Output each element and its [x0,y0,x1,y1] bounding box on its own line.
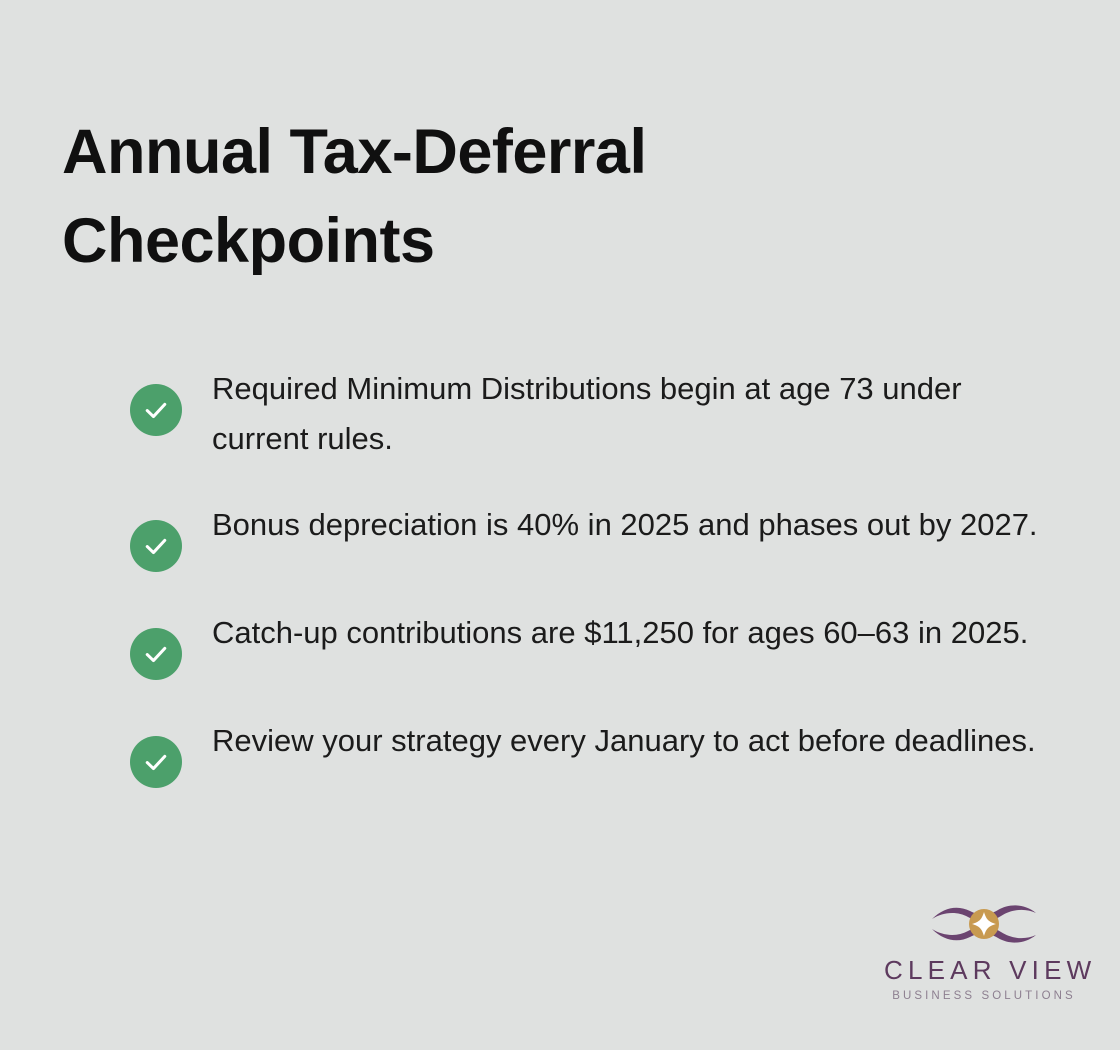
list-item-text: Review your strategy every January to ac… [182,716,1060,766]
list-item: Review your strategy every January to ac… [130,716,1060,788]
brand-name: CLEAR VIEW [884,957,1084,984]
check-circle-icon [130,520,182,572]
eye-star-logo-icon [930,898,1038,950]
list-item: Required Minimum Distributions begin at … [130,364,1060,464]
page-title: Annual Tax-Deferral Checkpoints [62,108,762,287]
checklist: Required Minimum Distributions begin at … [130,364,1060,788]
list-item-text: Catch-up contributions are $11,250 for a… [182,608,1060,658]
list-item-text: Bonus depreciation is 40% in 2025 and ph… [182,500,1060,550]
brand-tagline: BUSINESS SOLUTIONS [884,990,1084,1002]
slide-canvas: Annual Tax-Deferral Checkpoints Required… [0,0,1120,1050]
check-circle-icon [130,384,182,436]
check-circle-icon [130,736,182,788]
check-circle-icon [130,628,182,680]
brand-logo: CLEAR VIEW BUSINESS SOLUTIONS [884,898,1084,1002]
list-item: Catch-up contributions are $11,250 for a… [130,608,1060,680]
list-item: Bonus depreciation is 40% in 2025 and ph… [130,500,1060,572]
list-item-text: Required Minimum Distributions begin at … [182,364,1060,464]
